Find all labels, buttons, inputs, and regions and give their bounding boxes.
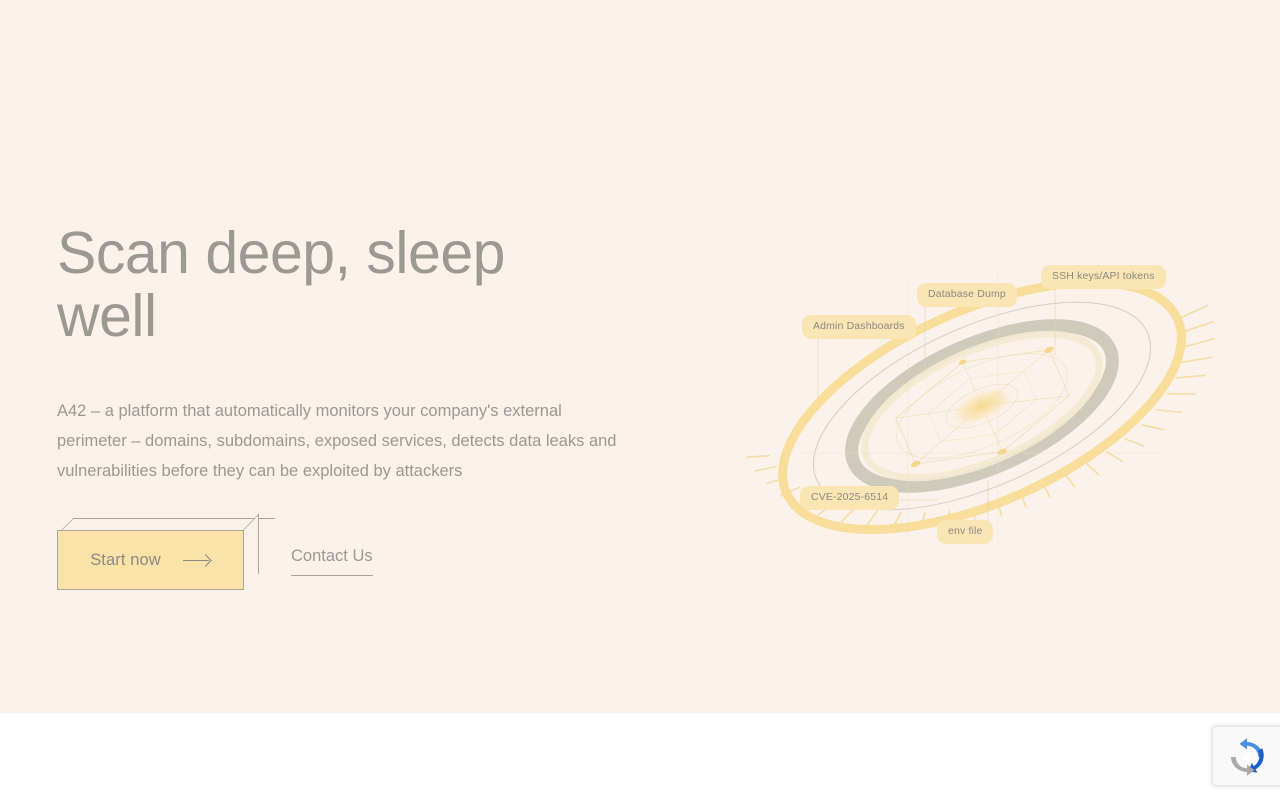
tag-cve-2025-6514: CVE-2025-6514 [800,486,899,510]
tag-admin-dashboards: Admin Dashboards [802,315,916,339]
hero-description: A42 – a platform that automatically moni… [57,396,627,486]
contact-us-link[interactable]: Contact Us [291,547,373,576]
start-now-button[interactable]: Start now [57,518,259,596]
hero-copy-block: Scan deep, sleep well A42 – a platform t… [57,222,677,486]
recaptcha-badge[interactable] [1212,726,1280,786]
button-front-face: Start now [57,530,244,590]
tag-ssh-keys-api-tokens: SSH keys/API tokens [1041,265,1166,289]
tag-env-file: env file [937,520,993,544]
start-now-label: Start now [90,551,161,570]
page-title: Scan deep, sleep well [57,222,527,348]
core-glow [945,378,1019,433]
arrow-right-icon [183,554,211,566]
hero-section: Scan deep, sleep well A42 – a platform t… [0,0,1280,713]
recaptcha-logo-icon [1227,737,1267,777]
tag-database-dump: Database Dump [917,283,1017,307]
cta-row: Start now Contact Us [57,518,557,598]
